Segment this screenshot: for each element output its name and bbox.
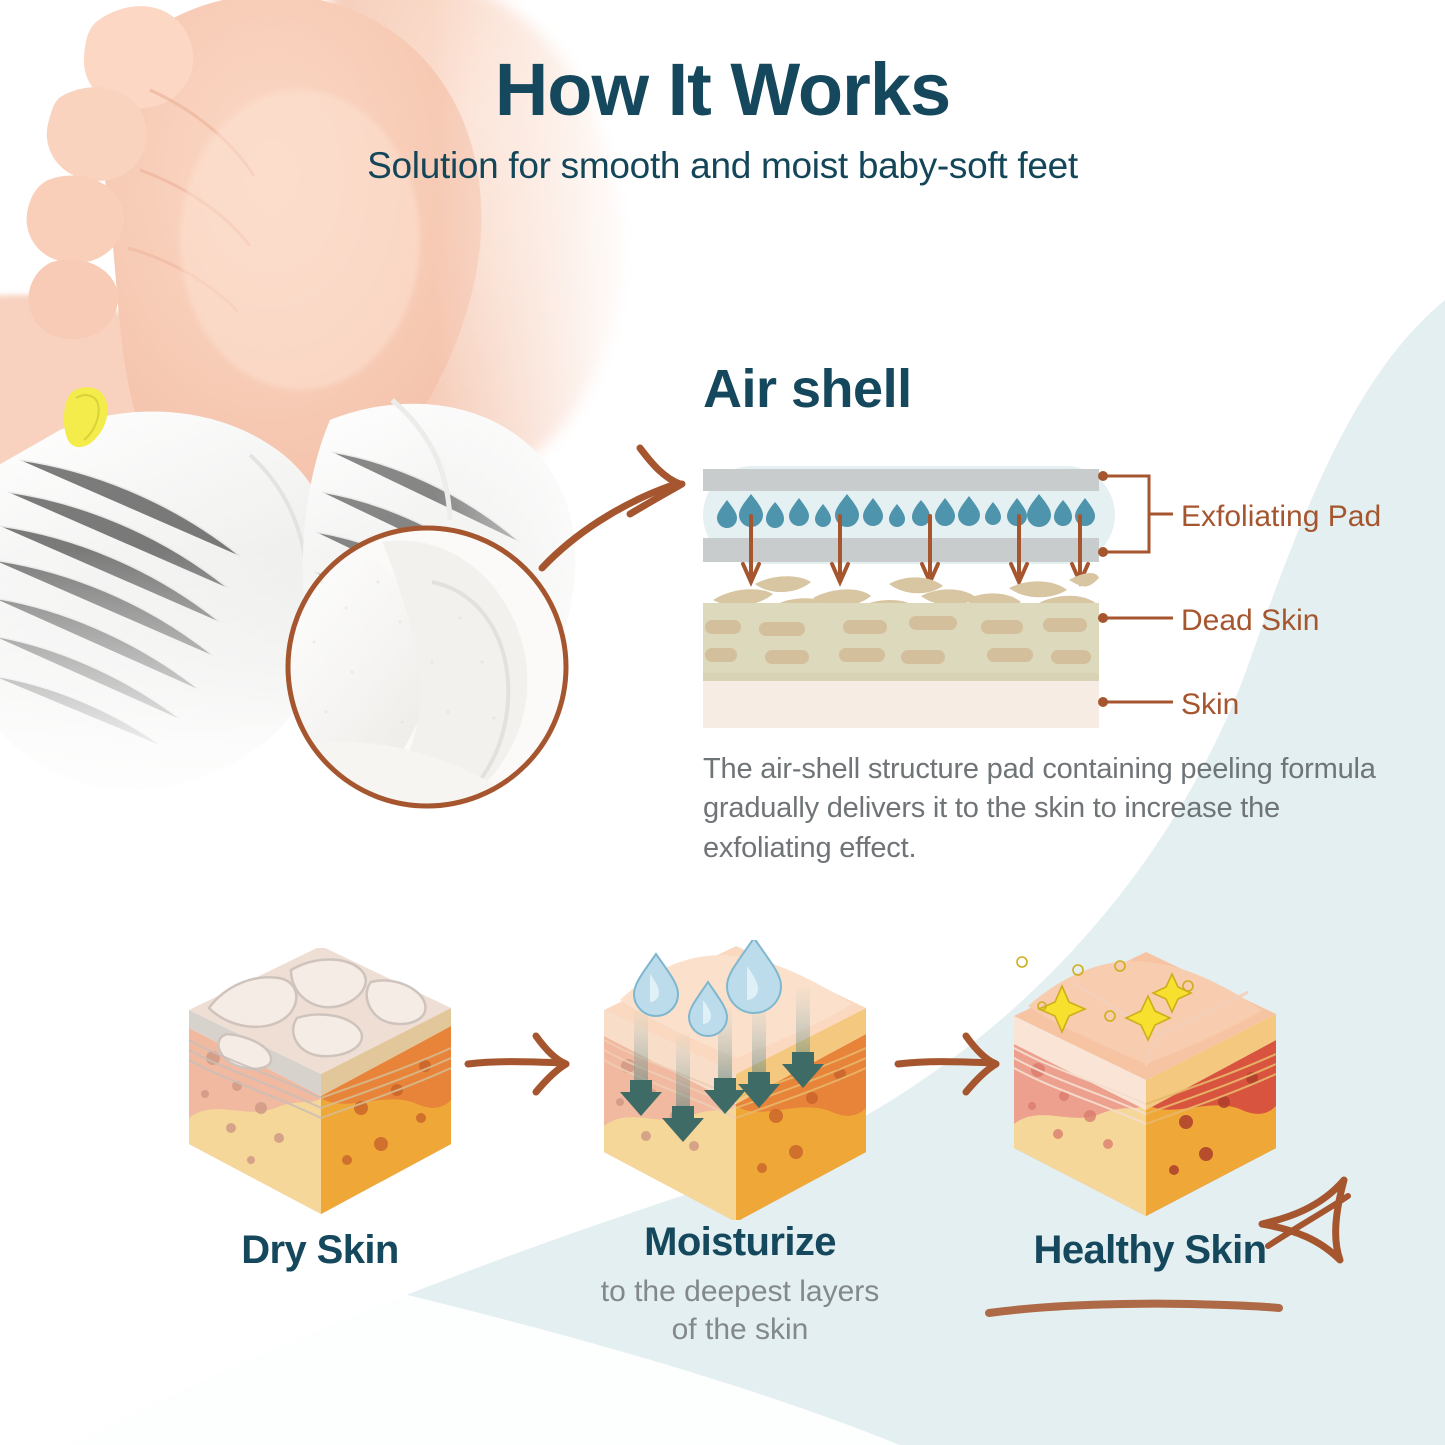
step-label-moisturize: Moisturize — [540, 1220, 940, 1265]
right-arrow-icon-2 — [882, 1018, 1012, 1108]
air-shell-heading: Air shell — [703, 358, 1403, 420]
page-subtitle: Solution for smooth and moist baby-soft … — [0, 145, 1445, 187]
underline-doodle-icon — [985, 1295, 1285, 1321]
steps-section: Dry Skin — [0, 930, 1445, 1350]
air-shell-diagram: Exfoliating Pad Dead Skin Skin — [703, 448, 1393, 728]
dead-skin-layer — [703, 603, 1099, 681]
skin-layer — [703, 681, 1099, 728]
step-sub-line2: of the skin — [672, 1313, 809, 1346]
step-label-healthy-skin: Healthy Skin — [940, 1228, 1360, 1273]
air-shell-diagram-svg: Exfoliating Pad Dead Skin Skin — [703, 448, 1393, 728]
step-sub-line1: to the deepest layers — [601, 1275, 880, 1308]
step-dry-skin: Dry Skin — [120, 1228, 520, 1273]
label-skin: Skin — [1181, 688, 1239, 721]
right-arrow-icon — [452, 1018, 582, 1108]
step-moisturize: Moisturize to the deepest layers of the … — [540, 1220, 940, 1349]
air-shell-section: Air shell — [703, 358, 1403, 868]
moisturize-cube — [590, 940, 880, 1220]
header: How It Works Solution for smooth and moi… — [0, 52, 1445, 187]
healthy-skin-cube — [1000, 948, 1290, 1218]
pad-top-band — [703, 469, 1099, 491]
step-sub-moisturize: to the deepest layers of the skin — [540, 1273, 940, 1349]
air-shell-description: The air-shell structure pad containing p… — [703, 750, 1393, 868]
infographic-root: How It Works Solution for smooth and moi… — [0, 0, 1445, 1445]
step-healthy-skin: Healthy Skin — [940, 1228, 1360, 1273]
label-exfoliating-pad: Exfoliating Pad — [1181, 500, 1381, 533]
pad-bottom-band — [703, 538, 1099, 562]
step-label-dry-skin: Dry Skin — [120, 1228, 520, 1273]
label-dead-skin: Dead Skin — [1181, 604, 1319, 637]
dry-skin-cube — [175, 948, 465, 1218]
page-title: How It Works — [0, 52, 1445, 127]
